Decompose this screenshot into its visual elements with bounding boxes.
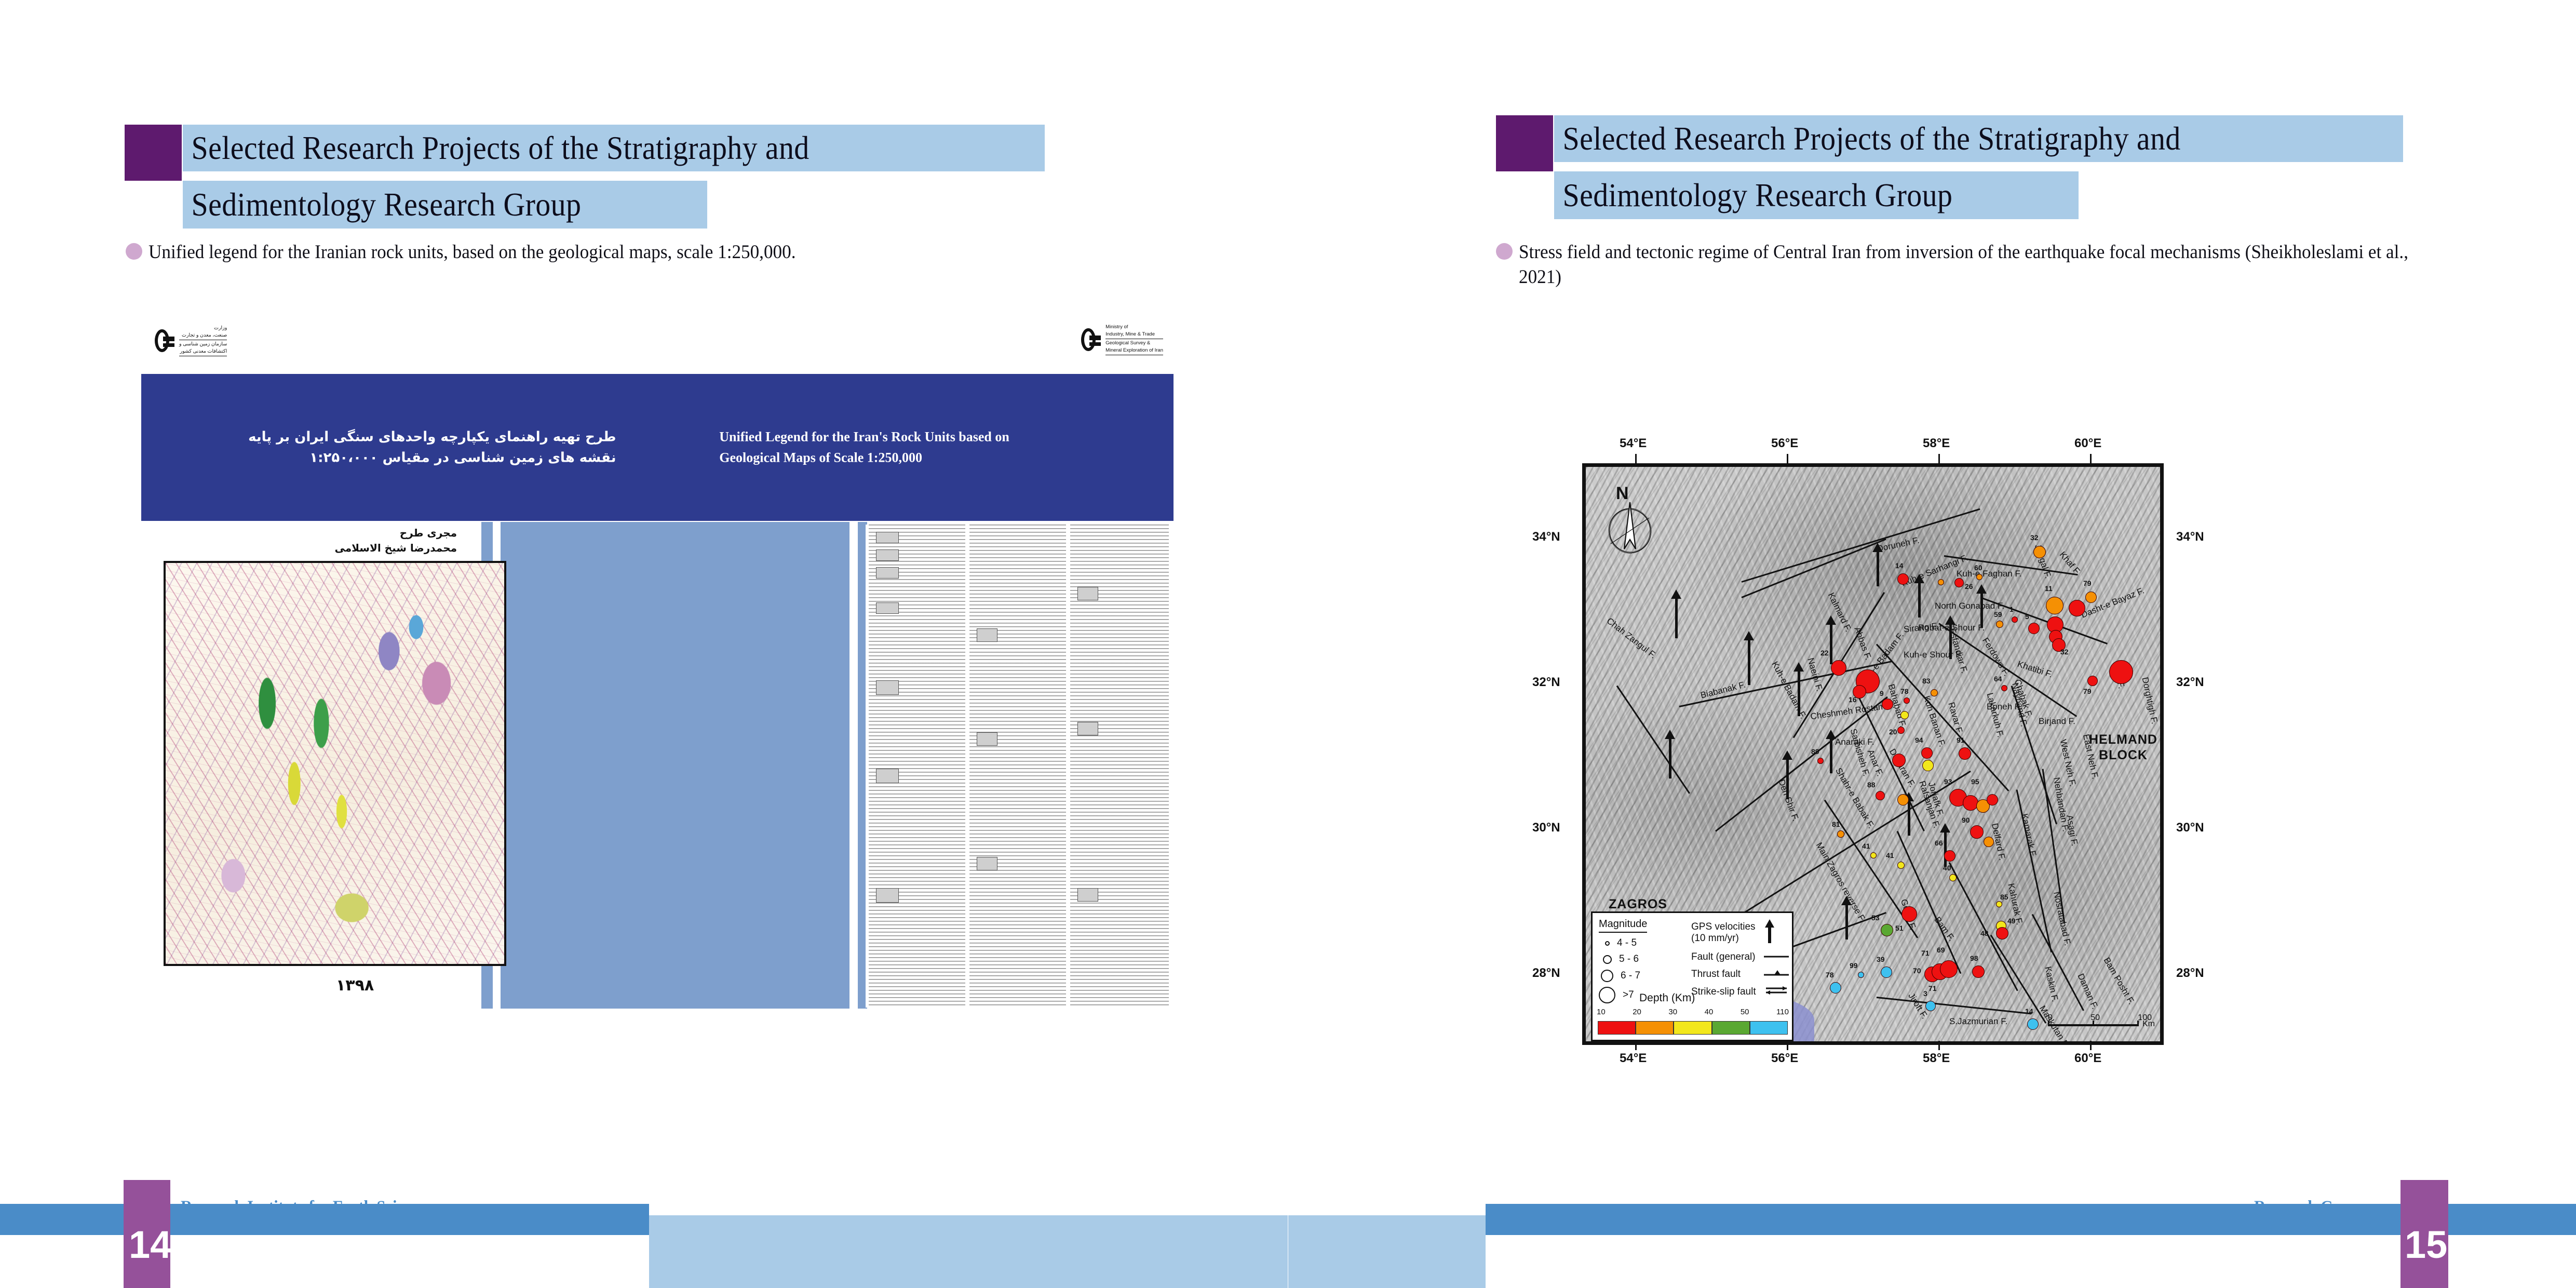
legend-thrust-fault: Thrust fault (1691, 969, 1759, 980)
earthquake-label: 41 (1886, 851, 1894, 860)
legend-magnitude-4-5: 4 - 5 (1617, 937, 1637, 949)
map-xtick-54E: 54°E (1620, 436, 1647, 451)
earthquake-label: 5 (2025, 612, 2029, 621)
earthquake-label: 16 (1849, 695, 1857, 704)
depth-tick-110: 110 (1776, 1008, 1789, 1016)
earthquake-label: 11 (2045, 584, 2053, 593)
earthquake-label: 53 (1871, 914, 1880, 922)
legend-depth-ticks: 10 20 30 40 50 110 (1597, 1008, 1789, 1016)
fault-label-birjand: Birjand F. (2039, 716, 2075, 727)
bullet-dot-icon-right (1496, 243, 1513, 260)
earthquake-label: 51 (1895, 924, 1904, 932)
earthquake-marker (1858, 972, 1864, 978)
earthquake-marker (1938, 579, 1944, 585)
map-ytick-28N-right: 28°N (2176, 966, 2204, 981)
legend-magnitude-5-6: 5 - 6 (1619, 954, 1639, 965)
earthquake-label: 95 (1971, 777, 1979, 786)
cover-manager-farsi: مجری طرح محمدرضا شیخ الاسلامی (335, 526, 457, 556)
region-label-zagros: ZAGROS (1609, 897, 1667, 912)
legend-fault-general: Fault (general) (1691, 951, 1759, 963)
right-page-number: 15 (2405, 1226, 2447, 1264)
earthquake-label: 93 (1944, 777, 1952, 786)
legend-thrust-row: Thrust fault (1691, 969, 1789, 980)
earthquake-label: 40 (1943, 864, 1951, 872)
cover-title-english: Unified Legend for the Iran's Rock Units… (719, 426, 1009, 468)
cover-year-farsi: ۱۳۹۸ (336, 976, 374, 995)
heading-accent-tab-right (1496, 115, 1553, 171)
earthquake-marker (1837, 830, 1844, 838)
legend-magnitude-6-7: 6 - 7 (1621, 970, 1640, 982)
unified-legend-sheet-thumbnail (866, 525, 1172, 1008)
svg-text:N: N (1616, 484, 1629, 503)
earthquake-label: 39 (1877, 955, 1885, 963)
earthquake-marker (2012, 616, 2018, 623)
heading-band-line2: Sedimentology Research Group (183, 181, 707, 229)
gsi-logo-english: Ministry of Industry, Mine & Trade Geolo… (1081, 324, 1163, 355)
earthquake-label: 1 (2009, 605, 2014, 613)
legend-magnitude-gt7: >7 (1623, 989, 1634, 1001)
region-label-helmand-block: HELMAND BLOCK (2084, 732, 2162, 763)
earthquake-label: 83 (1922, 677, 1931, 685)
left-page-number: 14 (129, 1226, 171, 1264)
earthquake-marker (1931, 689, 1938, 696)
left-page-heading: Selected Research Projects of the Strati… (125, 125, 1049, 229)
cover-title-band: طرح تهیه راهنمای یکپارچه واحدهای سنگی ای… (141, 374, 1174, 521)
earthquake-label: 81 (1832, 820, 1840, 828)
earthquake-marker (2033, 546, 2046, 558)
cover-title-farsi: طرح تهیه راهنمای یکپارچه واحدهای سنگی ای… (248, 426, 616, 468)
earthquake-label: 9 (1880, 689, 1884, 697)
earthquake-marker (1940, 960, 1958, 978)
map-xtick-58E: 58°E (1923, 436, 1950, 451)
earthquake-label: 41 (1862, 842, 1870, 850)
heading-accent-tab (125, 125, 182, 181)
earthquake-label: 90 (1962, 816, 1970, 824)
heading-text-line2: Sedimentology Research Group (183, 186, 581, 224)
logo-right-line-1: Industry, Mine & Trade (1105, 331, 1163, 338)
map-ytick-34N-right: 34°N (2176, 530, 2204, 544)
cover-blue-panel (501, 522, 849, 1009)
right-page: Selected Research Projects of the Strati… (1288, 0, 2576, 1288)
map-ytick-30N-right: 30°N (2176, 821, 2204, 835)
earthquake-label: 66 (1935, 839, 1943, 847)
earthquake-marker (1881, 967, 1892, 978)
fault-line-icon (1764, 952, 1789, 962)
earthquake-marker (1963, 795, 1978, 811)
legend-strike-slip-fault: Strike-slip fault (1691, 986, 1759, 998)
legend-magnitude-title: Magnitude (1599, 918, 1647, 933)
earthquake-label: 91 (1957, 736, 1965, 744)
earthquake-marker (1970, 825, 1984, 839)
earthquake-marker (2069, 600, 2085, 616)
thrust-fault-icon (1764, 970, 1789, 979)
heading-text-line2-right: Sedimentology Research Group (1554, 177, 1952, 214)
map-ytick-32N: 32°N (1532, 675, 1560, 690)
earthquake-label: 71 (1921, 949, 1930, 957)
magnitude-symbol-gt7 (1599, 987, 1615, 1003)
magnitude-symbol-4-5 (1605, 941, 1610, 946)
map-xtick-56E: 56°E (1771, 436, 1798, 451)
right-caption-text: Stress field and tectonic regime of Cent… (1519, 240, 2415, 290)
earthquake-label: 70 (1913, 967, 1921, 975)
earthquake-marker (1897, 727, 1905, 734)
cover-manager-farsi-label: مجری طرح (335, 526, 457, 541)
fault-label-north-gonabad: North Gonabad F. (1935, 601, 2004, 611)
right-footer-lightblue-block (1288, 1215, 1486, 1288)
heading-text-line1-right: Selected Research Projects of the Strati… (1554, 120, 2181, 158)
map-panel: N (1582, 463, 2164, 1045)
cover-logo-strip: وزارت صنعت، معدن و تجارت سازمان زمین شنا… (141, 318, 1174, 374)
earthquake-marker (2046, 597, 2064, 614)
left-footer-lightblue-block (649, 1215, 1288, 1288)
heading-band-line1: Selected Research Projects of the Strati… (183, 125, 1045, 171)
cover-title-farsi-line1: طرح تهیه راهنمای یکپارچه واحدهای سنگی ای… (248, 426, 616, 447)
gsi-logo-farsi: وزارت صنعت، معدن و تجارت سازمان زمین شنا… (155, 325, 227, 356)
earthquake-marker (1959, 747, 1971, 760)
logo-left-line-3: اکتشافات معدنی کشور (179, 348, 227, 355)
map-ytick-30N: 30°N (1532, 821, 1560, 835)
gps-arrow-9 (1830, 737, 1832, 773)
earthquake-marker (1996, 927, 2008, 940)
earthquake-marker (1881, 924, 1893, 936)
logo-right-line-2: Geological Survey & (1105, 340, 1163, 346)
map-xtick-60E-bottom: 60°E (2074, 1051, 2101, 1066)
earthquake-marker (2109, 660, 2133, 684)
earthquake-marker (1972, 965, 1985, 978)
heading-band-line1-right: Selected Research Projects of the Strati… (1554, 115, 2403, 162)
gps-arrow-5 (1830, 623, 1832, 664)
earthquake-label: 22 (1820, 649, 1829, 657)
earthquake-marker (2001, 685, 2007, 691)
earthquake-marker (1897, 794, 1909, 806)
heading-text-line1: Selected Research Projects of the Strati… (183, 129, 810, 167)
earthquake-label: 48 (1980, 929, 1989, 937)
fault-label-kuh-e-faghan: Kuh-e Faghan F. (1957, 569, 2022, 579)
cover-title-english-line1: Unified Legend for the Iran's Rock Units… (719, 426, 1009, 447)
legend-strikeslip-row: Strike-slip fault (1691, 986, 1789, 998)
earthquake-marker (1954, 578, 1964, 587)
earthquake-label: 98 (1970, 954, 1978, 962)
earthquake-marker (1817, 758, 1824, 764)
map-xtick-58E-bottom: 58°E (1923, 1051, 1950, 1066)
cover-manager-farsi-name: محمدرضا شیخ الاسلامی (335, 541, 457, 556)
earthquake-marker (2028, 623, 2040, 634)
legend-gps-row: GPS velocities (10 mm/yr) (1691, 919, 1789, 946)
depth-swatch-20-30 (1636, 1021, 1674, 1035)
legend-depth-colorbar (1598, 1021, 1788, 1035)
earthquake-label: 78 (1900, 687, 1909, 695)
depth-tick-10: 10 (1597, 1008, 1606, 1016)
earthquake-marker (2087, 676, 2098, 686)
depth-swatch-40-50 (1712, 1021, 1750, 1035)
magnitude-symbol-6-7 (1601, 970, 1613, 982)
earthquake-marker (1996, 621, 2003, 628)
legend-depth-title: Depth (Km) (1639, 992, 1695, 1004)
earthquake-label: 32 (2030, 533, 2039, 542)
legend-depth-title-wrap: Depth (Km) (1639, 992, 1695, 1004)
gsi-emblem-icon-2 (1081, 326, 1102, 353)
earthquake-label: 49 (2007, 917, 2016, 925)
gps-arrow-2 (1748, 638, 1750, 685)
gps-arrow-7 (1918, 581, 1921, 618)
earthquake-label: 78 (1826, 971, 1834, 979)
map-legend: Magnitude 4 - 5 5 - 6 6 - 7 (1591, 911, 1793, 1041)
right-page-heading: Selected Research Projects of the Strati… (1496, 115, 2431, 219)
map-ytick-32N-right: 32°N (2176, 675, 2204, 690)
magnitude-symbol-5-6 (1603, 955, 1612, 964)
earthquake-label: 99 (1850, 961, 1858, 970)
earthquake-marker (2085, 592, 2097, 603)
earthquake-label: 79 (2083, 687, 2092, 695)
logo-left-line-1: صنعت، معدن و تجارت (179, 332, 227, 339)
logo-left-line-0: وزارت (179, 325, 227, 331)
depth-swatch-50-110 (1750, 1021, 1788, 1035)
earthquake-marker (1876, 791, 1885, 800)
earthquake-label: 3 (1923, 989, 1927, 998)
depth-swatch-10-20 (1598, 1021, 1636, 1035)
depth-tick-40: 40 (1705, 1008, 1714, 1016)
map-xtick-54E-bottom: 54°E (1620, 1051, 1647, 1066)
earthquake-marker (1882, 699, 1893, 710)
depth-tick-50: 50 (1741, 1008, 1749, 1016)
earthquake-marker (1830, 982, 1841, 994)
earthquake-marker (1900, 711, 1909, 719)
gps-arrow-icon (1764, 919, 1775, 946)
logo-right-line-3: Mineral Exploration of Iran (1105, 347, 1163, 354)
earthquake-marker (1892, 754, 1906, 767)
book-spread: Selected Research Projects of the Strati… (0, 0, 2576, 1288)
earthquake-label: 60 (1974, 563, 1982, 572)
earthquake-label: 71 (1928, 984, 1937, 992)
legend-fault-row: Fault (general) (1691, 951, 1789, 963)
scale-unit: Km (2142, 1019, 2155, 1029)
map-xtick-60E: 60°E (2074, 436, 2101, 451)
depth-tick-20: 20 (1633, 1008, 1641, 1016)
earthquake-label: 89 (1811, 747, 1819, 756)
map-scale-bar: 0 50 100 Km (2048, 1013, 2152, 1026)
earthquake-marker (1831, 660, 1846, 676)
earthquake-label: 88 (1867, 781, 1876, 789)
earthquake-label: 85 (2000, 893, 2008, 901)
left-page-caption: Unified legend for the Iranian rock unit… (126, 240, 1040, 265)
gps-arrow-6 (1877, 550, 1879, 586)
scale-tick-50: 50 (2091, 1013, 2100, 1023)
left-caption-text: Unified legend for the Iranian rock unit… (149, 240, 995, 265)
earthquake-marker (1996, 901, 2002, 907)
map-ytick-34N: 34°N (1532, 530, 1560, 544)
map-xtick-56E-bottom: 56°E (1771, 1051, 1798, 1066)
cover-title-farsi-line2: نقشه های زمین شناسی در مقیاس ۱:۲۵۰،۰۰۰ (248, 448, 616, 468)
earthquake-label: 59 (1994, 610, 2002, 619)
logo-right-line-0: Ministry of (1105, 324, 1163, 330)
earthquake-marker (1984, 837, 1994, 847)
gps-arrow-14 (1845, 903, 1848, 940)
fault-label-kuh-e-shour: Kuh-e Shour F. (1904, 650, 1962, 660)
depth-swatch-30-40 (1674, 1021, 1711, 1035)
map-ytick-28N: 28°N (1532, 966, 1560, 981)
earthquake-label: 64 (1994, 675, 2002, 683)
right-page-caption: Stress field and tectonic regime of Cent… (1496, 240, 2462, 290)
earthquake-label: 69 (1937, 946, 1945, 954)
legend-gps-velocities: GPS velocities (10 mm/yr) (1691, 921, 1759, 944)
gps-arrow-13 (1944, 830, 1947, 867)
earthquake-label: 79 (2083, 579, 2092, 587)
gps-arrow-4 (1669, 737, 1671, 779)
earthquake-marker (1976, 574, 1982, 580)
earthquake-marker (1897, 862, 1905, 869)
earthquake-marker (1922, 760, 1934, 771)
earthquake-marker (1987, 794, 1998, 806)
gps-arrow-1 (1675, 597, 1678, 638)
earthquake-marker (1944, 850, 1955, 862)
bullet-dot-icon (126, 243, 142, 260)
earthquake-marker (1901, 906, 1917, 922)
left-page: Selected Research Projects of the Strati… (0, 0, 1288, 1288)
earthquake-marker (1949, 874, 1957, 881)
left-footer-label: Research Institute for Earth Sciences (181, 1198, 433, 1217)
logo-left-line-2: سازمان زمین شناسی و (179, 341, 227, 347)
fault-label-s-jazmurian: S.Jazmurian F. (1949, 1016, 2007, 1027)
north-arrow-icon: N (1601, 481, 1664, 559)
earthquake-marker (1904, 697, 1910, 704)
earthquake-label: 26 (1965, 582, 1973, 591)
earthquake-marker (1921, 747, 1933, 759)
earthquake-label: 94 (1915, 736, 1923, 744)
strike-slip-fault-icon (1764, 986, 1789, 998)
earthquake-marker (2027, 1018, 2039, 1030)
earthquake-marker (1897, 573, 1909, 585)
earthquake-label: 20 (1889, 728, 1897, 736)
earthquake-marker (1870, 852, 1877, 858)
cover-title-english-line2: Geological Maps of Scale 1:250,000 (719, 448, 1009, 468)
earthquake-label: 32 (2060, 648, 2069, 656)
report-cover-figure: وزارت صنعت، معدن و تجارت سازمان زمین شنا… (141, 318, 1174, 1009)
tectonic-map-figure: 54°E 56°E 58°E 60°E 34°N 32°N 30°N 28°N … (1532, 436, 2228, 1122)
legend-symbol-column: GPS velocities (10 mm/yr) Fault (general… (1691, 919, 1789, 1003)
depth-tick-30: 30 (1668, 1008, 1677, 1016)
gsi-emblem-icon (155, 327, 176, 354)
geological-map-thumbnail (164, 561, 506, 966)
heading-band-line2-right: Sedimentology Research Group (1554, 171, 2079, 219)
right-footer-label: Research Groups (2254, 1198, 2371, 1217)
gps-arrow-12 (1908, 799, 1910, 836)
earthquake-label: 14 (1895, 561, 1904, 570)
earthquake-marker (1925, 1001, 1936, 1011)
earthquake-label: 14 (2025, 1007, 2033, 1015)
